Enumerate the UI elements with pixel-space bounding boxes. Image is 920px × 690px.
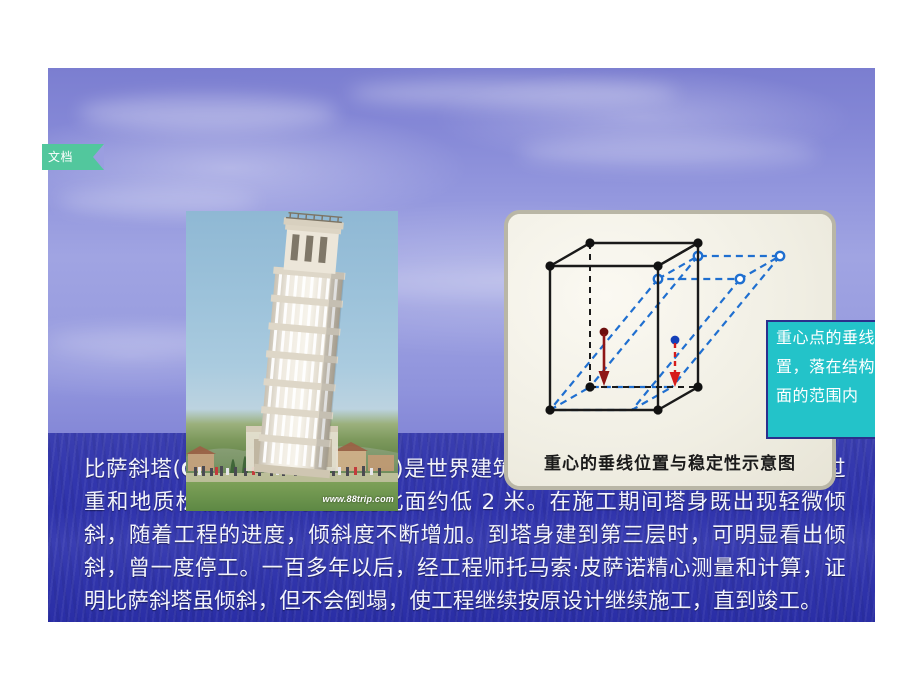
center-of-gravity-callout: 重心点的垂线位置，落在结构底面的范围内 (766, 320, 875, 439)
document-tag-label: 文档 (48, 150, 73, 164)
photo-watermark: www.88trip.com (323, 494, 394, 504)
document-tag-badge[interactable]: 文档 (42, 144, 104, 170)
cloud-streak (348, 80, 678, 106)
leaning-tower-of-pisa-photo: www.88trip.com (186, 211, 398, 511)
diagram-caption: 重心的垂线位置与稳定性示意图 (508, 449, 832, 474)
paragraph-prefix: 比萨斜塔( (84, 457, 181, 482)
cloud-streak (518, 138, 818, 168)
tower-illustration (186, 211, 398, 511)
screenshot-canvas: 比萨斜塔(CAMPANILE DI PISA)是世界建筑史上的一大奇迹。由于塔身… (0, 0, 920, 690)
upright-box-black (550, 243, 698, 410)
leaning-box-blue (550, 256, 780, 410)
gravity-arrow-upright (599, 328, 610, 386)
cloud-streak (78, 96, 338, 130)
presentation-slide: 比萨斜塔(CAMPANILE DI PISA)是世界建筑史上的一大奇迹。由于塔身… (48, 68, 875, 622)
